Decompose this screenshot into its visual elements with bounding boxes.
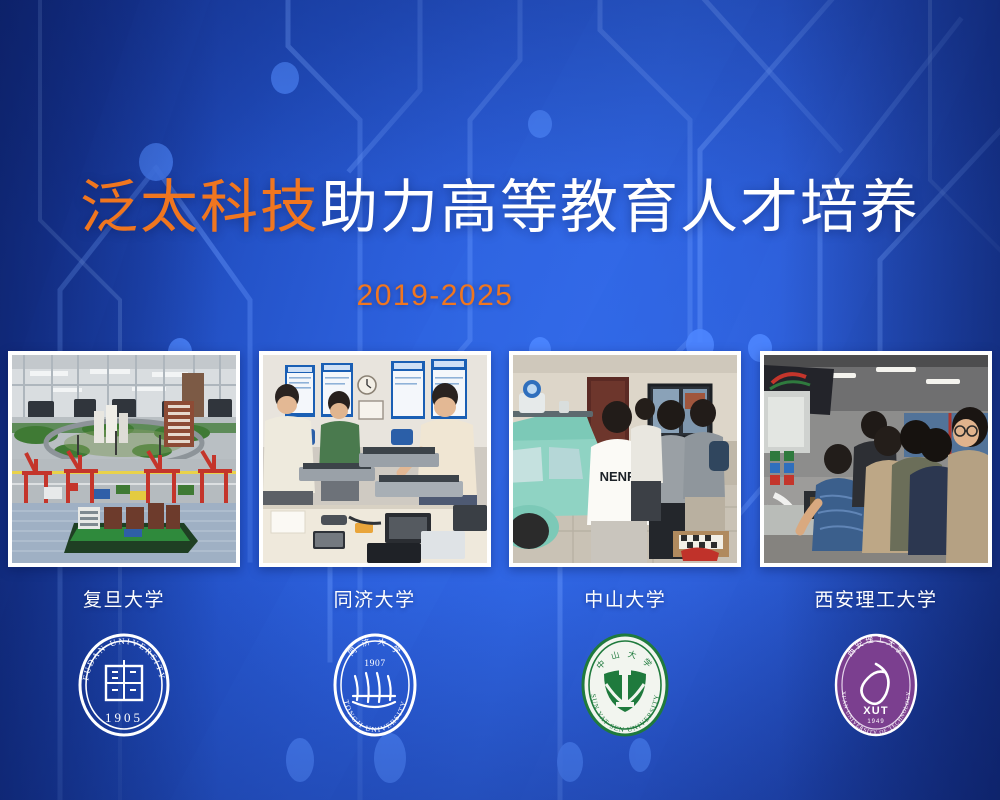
date-range-subtitle: 2019-2025 <box>0 279 1000 313</box>
poster-canvas: 泛太科技助力高等教育人才培养 2019-2025 <box>0 0 1000 800</box>
headline-main-text: 助力高等教育人才培养 <box>320 175 920 240</box>
university-name: 同济大学 <box>259 585 491 612</box>
workshop-demonstration-photo <box>764 355 988 563</box>
university-name: 西安理工大学 <box>760 585 992 612</box>
svg-text:同 济 大 学: 同 济 大 学 <box>346 636 404 658</box>
photo-frame <box>259 351 491 567</box>
university-name: 复旦大学 <box>8 585 240 612</box>
svg-text:TONGJI UNIVERSITY: TONGJI UNIVERSITY <box>341 699 408 734</box>
svg-text:1907: 1907 <box>364 659 385 669</box>
sun-yat-sen-university-logo: 中 山 大 学 SUN YAT-SEN UNIVERSITY <box>509 630 741 740</box>
xian-university-of-technology-logo: 西安理工大学 XI'AN UNIVERSITY OF TECHNOLOGY XU… <box>760 630 992 740</box>
university-card: 同济大学 同 济 大 学 TONGJI UNIVERSITY 1907 <box>259 351 491 740</box>
autonomous-vehicle-photo: NENR <box>513 355 737 563</box>
university-card-row: 复旦大学 FUDAN UNIVERSITY 1905 <box>0 351 1000 740</box>
smart-city-port-model-photo <box>12 355 236 563</box>
lab-equipment-students-photo <box>263 355 487 563</box>
university-card: NENR <box>509 351 741 740</box>
brand-name: 泛太科技 <box>80 175 320 240</box>
photo-frame: NENR <box>509 351 741 567</box>
photo-frame <box>8 351 240 567</box>
svg-text:XUT: XUT <box>863 705 889 717</box>
university-card: 西安理工大学 西安理工大学 XI'AN UNIVERSITY OF TECHNO… <box>760 351 992 740</box>
fudan-university-logo: FUDAN UNIVERSITY 1905 <box>8 630 240 740</box>
photo-frame <box>760 351 992 567</box>
university-card: 复旦大学 FUDAN UNIVERSITY 1905 <box>8 351 240 740</box>
svg-text:1949: 1949 <box>867 719 884 725</box>
university-name: 中山大学 <box>509 585 741 612</box>
tongji-university-logo: 同 济 大 学 TONGJI UNIVERSITY 1907 <box>259 630 491 740</box>
headline-block: 泛太科技助力高等教育人才培养 <box>0 176 1000 241</box>
svg-text:1905: 1905 <box>105 710 143 725</box>
page-title: 泛太科技助力高等教育人才培养 <box>0 176 1000 241</box>
